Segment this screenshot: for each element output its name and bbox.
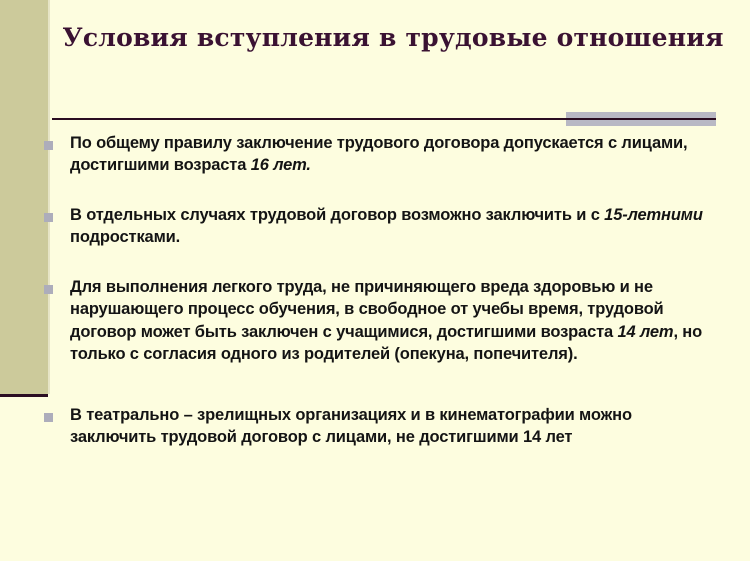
bullet-text: В отдельных случаях трудовой договор воз… (70, 204, 720, 249)
bullet-emphasis: 16 лет. (251, 156, 311, 174)
bullet-run: По общему правилу заключение трудового д… (70, 134, 687, 174)
bullet-text: Для выполнения легкого труда, не причиня… (70, 276, 720, 366)
bullet-run: В отдельных случаях трудовой договор воз… (70, 206, 604, 224)
bullet-run: Для выполнения легкого труда, не причиня… (70, 278, 664, 341)
bullet-item: Для выполнения легкого труда, не причиня… (40, 276, 720, 366)
bullet-emphasis: 14 лет (618, 323, 674, 341)
bullet-item: В театрально – зрелищных организациях и … (40, 404, 720, 449)
square-bullet-icon (44, 285, 53, 294)
square-bullet-icon (44, 141, 53, 150)
square-bullet-icon (44, 213, 53, 222)
bullet-emphasis: 15-летними (604, 206, 703, 224)
bullet-text: В театрально – зрелищных организациях и … (70, 404, 720, 449)
slide-title: Условия вступления в трудовые отношения (48, 24, 738, 53)
square-bullet-icon (44, 413, 53, 422)
bullet-item: В отдельных случаях трудовой договор воз… (40, 204, 720, 249)
bullet-run: подростками. (70, 228, 180, 246)
presentation-slide: Условия вступления в трудовые отношения … (0, 0, 750, 561)
bullet-list: По общему правилу заключение трудового д… (40, 132, 720, 448)
bullet-item: По общему правилу заключение трудового д… (40, 132, 720, 177)
bullet-run: В театрально – зрелищных организациях и … (70, 406, 632, 446)
title-divider-line (52, 118, 716, 120)
bullet-text: По общему правилу заключение трудового д… (70, 132, 720, 177)
